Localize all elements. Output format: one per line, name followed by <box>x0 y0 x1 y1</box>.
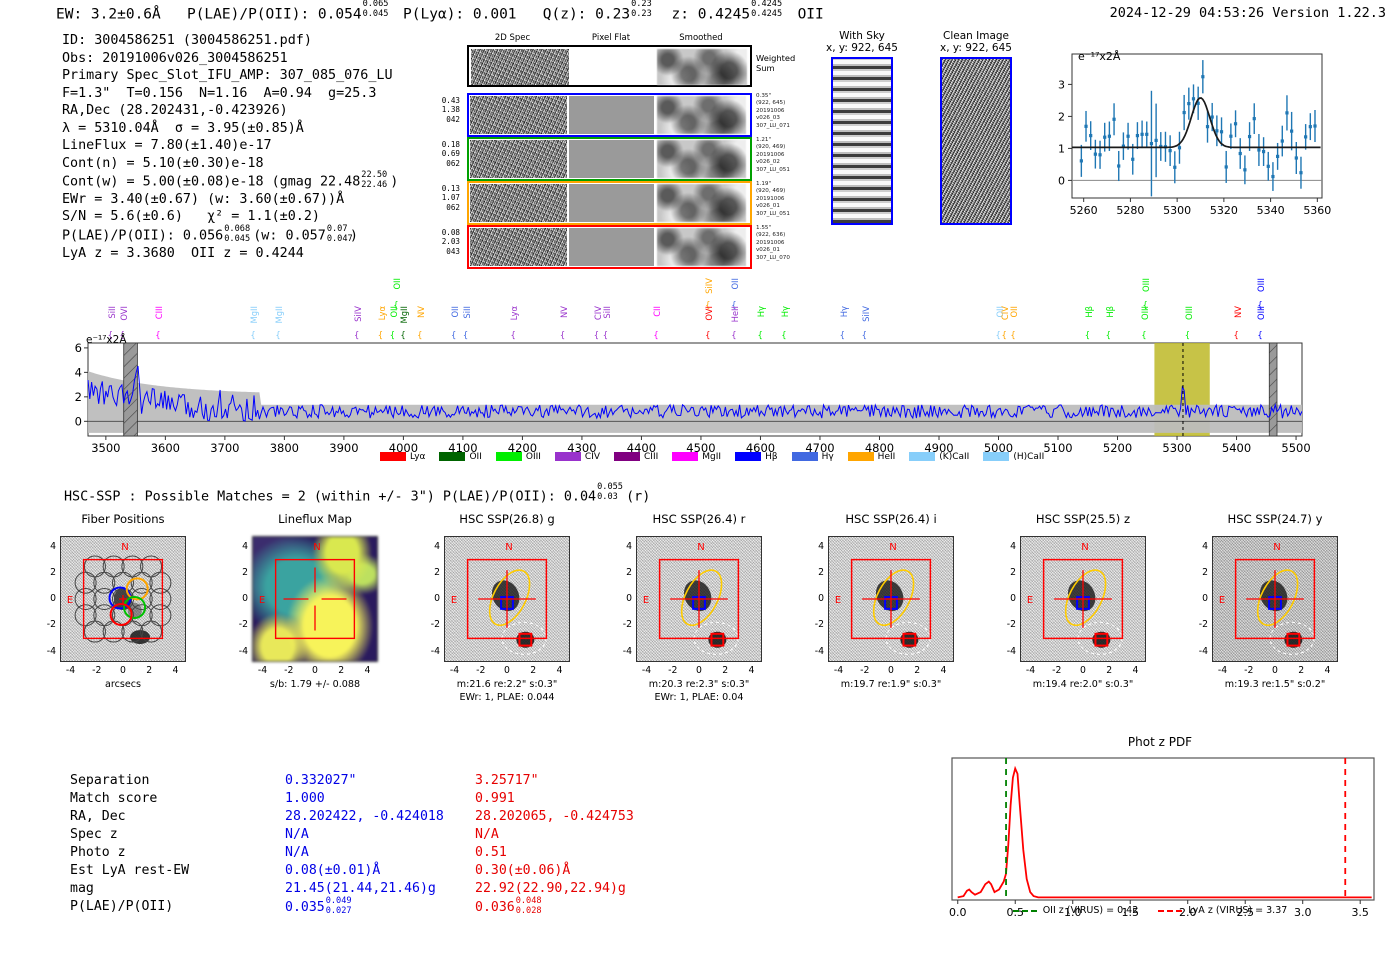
line-brace: { <box>417 330 422 340</box>
legend-item: MgII <box>672 452 721 462</box>
line-label-oii: OII <box>1009 306 1019 318</box>
row-label: Est LyA rest-EW <box>70 862 189 880</box>
x-tick: 0 <box>690 665 708 676</box>
x-tick: -2 <box>88 665 106 676</box>
x-tick: -4 <box>446 665 464 676</box>
with-sky-image <box>831 57 893 225</box>
x-tick: 4 <box>167 665 185 676</box>
header-z-bounds: 0.42450.4245 <box>750 4 780 19</box>
photz-title: Phot z PDF <box>930 735 1390 749</box>
cutout-caption-secondary: EWr: 1, PLAE: 0.04 <box>618 692 780 704</box>
photz-legend-item: OII z (VIRUS) = 0.42 <box>1013 905 1139 916</box>
svg-text:5500: 5500 <box>1281 441 1310 455</box>
y-tick: 4 <box>232 541 248 552</box>
x-tick: 2 <box>716 665 734 676</box>
line-label-siiv: SiIV <box>353 306 363 322</box>
x-tick: -2 <box>280 665 298 676</box>
legend-item: Lyα <box>380 452 425 462</box>
svg-text:3600: 3600 <box>151 441 180 455</box>
info-line-slot: Primary Spec_Slot_IFU_AMP: 307_085_076_L… <box>62 67 398 85</box>
line-label-hγ: Hγ <box>839 306 849 317</box>
x-tick: -2 <box>1240 665 1258 676</box>
with-sky-title: With Sky <box>820 30 904 42</box>
header-qz-bounds: 0.230.23 <box>630 4 654 19</box>
svg-text:0: 0 <box>1058 174 1065 187</box>
svg-text:3: 3 <box>1058 78 1065 91</box>
y-tick: -2 <box>1192 619 1208 630</box>
y-tick: 4 <box>40 541 56 552</box>
svg-text:5320: 5320 <box>1210 204 1238 217</box>
line-label-oiii: OIII <box>1256 278 1266 292</box>
x-tick: 4 <box>1127 665 1145 676</box>
header-summary: EW: 3.2±0.6Å P(LAE)/P(OII): 0.0540.0650.… <box>56 4 824 23</box>
row-value-match1: N/A <box>285 844 309 862</box>
header-z-type: OII <box>798 7 824 23</box>
y-tick: 2 <box>616 567 632 578</box>
line-brace: { <box>155 330 160 340</box>
svg-text:3900: 3900 <box>329 441 358 455</box>
y-tick: 4 <box>808 541 824 552</box>
svg-text:N: N <box>697 542 704 553</box>
legend-label: Lyα <box>410 452 425 462</box>
cutout-panel-row: Fiber PositionsNE-4-2024-4-2024arcsecsLi… <box>0 512 1400 737</box>
line-brace: { <box>594 330 599 340</box>
svg-text:N: N <box>313 542 320 553</box>
legend-label: MgII <box>702 452 721 462</box>
cutout-title: Lineflux Map <box>252 512 378 526</box>
svg-text:E: E <box>259 595 265 606</box>
svg-text:4: 4 <box>75 365 82 379</box>
line-brace: { <box>1106 330 1111 340</box>
full-spectrum-plot: SiII{OVI{CIII{MgII{MgII{SiIV{Lyα{OII{OII… <box>70 278 1370 478</box>
svg-text:2: 2 <box>75 390 82 404</box>
y-tick: 2 <box>40 567 56 578</box>
fiber-pixelflat-image <box>569 184 654 222</box>
svg-text:5360: 5360 <box>1303 204 1331 217</box>
line-brace: { <box>451 330 456 340</box>
hsc-plae-bounds: 0.0550.03 <box>596 487 626 500</box>
spec2d-col-title-2dspec: 2D Spec <box>460 33 565 43</box>
y-tick: -4 <box>424 646 440 657</box>
y-tick: 4 <box>616 541 632 552</box>
x-tick: 0 <box>1074 665 1092 676</box>
svg-text:5300: 5300 <box>1162 441 1191 455</box>
legend-item: HeII <box>848 452 896 462</box>
line-fit-unit-label: e⁻¹⁷x2Å <box>1078 50 1120 63</box>
legend-swatch <box>555 452 581 461</box>
x-tick: -2 <box>856 665 874 676</box>
line-label-oii: OII <box>392 278 402 290</box>
x-tick: -4 <box>62 665 80 676</box>
legend-swatch <box>848 452 874 461</box>
line-brace: { <box>603 330 608 340</box>
fiber-row-meta: 1.55" (922, 636) 20191006 v026_01 307_LU… <box>756 225 790 262</box>
cutout-caption: m:19.7 re:1.9" s:0.3" <box>810 679 972 691</box>
with-sky-thumb: With Sky x, y: 922, 645 <box>820 30 904 225</box>
line-label-oii: OII <box>450 306 460 318</box>
fiber-2dspec-image <box>470 96 567 134</box>
row-value-match1: 21.45(21.44,21.46)g <box>285 880 436 898</box>
line-brace: { <box>840 330 845 340</box>
spec2d-weighted-sum-label: Weighted Sum <box>756 53 795 73</box>
line-label-ovi: OVI <box>704 306 714 321</box>
y-tick: -4 <box>1000 646 1016 657</box>
svg-text:N: N <box>889 542 896 553</box>
legend-swatch <box>983 452 1009 461</box>
x-tick: 2 <box>140 665 158 676</box>
line-fit-plot: 5260528053005320534053600123 e⁻¹⁷x2Å <box>1030 40 1330 240</box>
legend-item: OII <box>439 452 481 462</box>
y-tick: 2 <box>424 567 440 578</box>
y-tick: -2 <box>616 619 632 630</box>
row-label: Match score <box>70 790 157 808</box>
legend-item: OIII <box>496 452 541 462</box>
line-label-ovi: OVI <box>119 306 129 321</box>
row-value-match2: 3.25717" <box>475 772 539 790</box>
cutout-title: Fiber Positions <box>60 512 186 526</box>
line-brace: { <box>1257 300 1262 310</box>
line-brace: { <box>1185 330 1190 340</box>
svg-text:E: E <box>451 595 457 606</box>
y-tick: -2 <box>232 619 248 630</box>
info-line-fwhm: F=1.3" T=0.156 N=1.16 A=0.94 g=25.3 <box>62 85 398 103</box>
hsc-header-text: HSC-SSP : Possible Matches = 2 (within +… <box>64 489 596 504</box>
fiber-row-numbers: 0.13 1.07 062 <box>430 184 460 212</box>
fiber-pixelflat-image <box>569 140 654 178</box>
fiber-row-meta: 1.21" (920, 469) 20191006 v026_02 307_LU… <box>756 137 790 174</box>
cutout-panel[interactable]: HSC SSP(25.5) zNE-4-2024-4-2024m:19.4 re… <box>1020 512 1190 526</box>
line-label-siii: SiII <box>107 306 117 319</box>
y-tick: 0 <box>232 593 248 604</box>
legend-item: Hγ <box>792 452 834 462</box>
timestamp-version: 2024-12-29 04:53:26 Version 1.22.3 <box>1110 5 1386 21</box>
svg-text:0: 0 <box>75 414 82 428</box>
row-label: Photo z <box>70 844 126 862</box>
header-ew: EW: 3.2±0.6Å <box>56 7 161 23</box>
line-label-hγ: Hγ <box>756 306 766 317</box>
full-spectrum-legend: LyαOIIOIIICIVCIIIMgIIHβHγHeII(K)CaII(H)C… <box>380 452 1058 462</box>
x-tick: 2 <box>908 665 926 676</box>
line-brace: { <box>1010 330 1015 340</box>
spec2d-fiber-row <box>467 93 752 137</box>
fiber-row-numbers: 0.18 0.69 062 <box>430 140 460 168</box>
x-tick: -4 <box>254 665 272 676</box>
fiber-pixelflat-image <box>569 228 654 266</box>
legend-label: HeII <box>878 452 896 462</box>
line-brace: { <box>378 330 383 340</box>
line-label-mgii: MgII <box>274 306 284 323</box>
line-brace: { <box>996 330 1001 340</box>
info-plae-w-bounds: 0.070.047 <box>326 226 350 239</box>
spec2d-panel: 2D Spec Pixel Flat Smoothed Weighted Sum… <box>460 33 760 253</box>
row-value-match2: 28.202065, -0.424753 <box>475 808 634 826</box>
y-tick: -2 <box>1000 619 1016 630</box>
svg-text:N: N <box>1273 542 1280 553</box>
row-value-match1: 0.0350.0490.027 <box>285 898 355 917</box>
x-tick: 4 <box>1319 665 1337 676</box>
line-brace: { <box>390 330 395 340</box>
x-tick: 0 <box>1266 665 1284 676</box>
header-plae-bounds: 0.0650.045 <box>362 4 386 19</box>
x-tick: 4 <box>935 665 953 676</box>
spec2d-col-title-pixelflat: Pixel Flat <box>566 33 656 43</box>
svg-text:N: N <box>1081 542 1088 553</box>
photz-legend-label: OII z (VIRUS) = 0.42 <box>1043 905 1139 916</box>
svg-text:2: 2 <box>1058 110 1065 123</box>
svg-text:N: N <box>121 542 128 553</box>
legend-swatch <box>672 452 698 461</box>
line-brace: { <box>731 330 736 340</box>
row-value-match2: 22.92(22.90,22.94)g <box>475 880 626 898</box>
svg-text:5260: 5260 <box>1070 204 1098 217</box>
line-brace: { <box>560 330 565 340</box>
y-tick: -4 <box>40 646 56 657</box>
info-line-radec: RA,Dec (28.202431,-0.423926) <box>62 102 398 120</box>
svg-text:5280: 5280 <box>1116 204 1144 217</box>
fiber-smoothed-image <box>657 96 746 134</box>
info-line-contw: Cont(w) = 5.00(±0.08)e-18 (gmag 22.4822.… <box>62 172 398 191</box>
row-value-match1: 1.000 <box>285 790 325 808</box>
x-tick: -2 <box>664 665 682 676</box>
spec2d-fiber-row <box>467 137 752 181</box>
svg-text:6: 6 <box>75 341 82 355</box>
info-line-plae: P(LAE)/P(OII): 0.0560.0680.045(w: 0.0570… <box>62 226 398 245</box>
spec2d-fiber-row <box>467 225 752 269</box>
spec2d-ws-smoothed-image <box>657 49 747 85</box>
fiber-smoothed-image <box>657 140 746 178</box>
y-tick: 2 <box>232 567 248 578</box>
hsc-header: HSC-SSP : Possible Matches = 2 (within +… <box>64 487 650 504</box>
weighted-label-line2: Sum <box>756 63 795 73</box>
x-tick: -4 <box>1214 665 1232 676</box>
row-value-match2: 0.51 <box>475 844 507 862</box>
info-line-lineflux: LineFlux = 7.80(±1.40)e-17 <box>62 137 398 155</box>
header-plae-label: P(LAE)/P(OII): 0.054 <box>187 7 362 23</box>
cutout-panel[interactable]: HSC SSP(26.8) gNE-4-2024-4-2024m:21.6 re… <box>444 512 614 526</box>
x-tick: 2 <box>524 665 542 676</box>
legend-item: CIII <box>614 452 658 462</box>
legend-swatch <box>439 452 465 461</box>
line-label-lyα: Lyα <box>509 306 519 320</box>
svg-text:E: E <box>835 595 841 606</box>
line-brace: { <box>393 300 398 310</box>
line-brace: { <box>1142 300 1147 310</box>
line-brace: { <box>463 330 468 340</box>
line-label-lyα: Lyα <box>377 306 387 320</box>
cutout-panel[interactable]: HSC SSP(26.4) rNE-4-2024-4-2024m:20.3 re… <box>636 512 806 526</box>
legend-item: (H)CaII <box>983 452 1044 462</box>
y-tick: 4 <box>424 541 440 552</box>
cutout-title: HSC SSP(25.5) z <box>1020 512 1146 526</box>
line-label-siii: SiII <box>602 306 612 319</box>
fiber-row-numbers: 0.43 1.38 042 <box>430 96 460 124</box>
svg-text:E: E <box>1219 595 1225 606</box>
svg-text:5300: 5300 <box>1163 204 1191 217</box>
legend-item: (K)CaII <box>909 452 969 462</box>
row-value-match2: 0.991 <box>475 790 515 808</box>
x-tick: -4 <box>638 665 656 676</box>
photz-legend-label: LyA z (VIRUS) = 3.37 <box>1188 905 1287 916</box>
cutout-panel[interactable]: HSC SSP(24.7) yNE-4-2024-4-2024m:19.3 re… <box>1212 512 1382 526</box>
detection-info-block: ID: 3004586251 (3004586251.pdf) Obs: 201… <box>62 32 398 262</box>
line-label-ciii: CIII <box>154 306 164 319</box>
cutout-panel[interactable]: Fiber PositionsNE-4-2024-4-2024arcsecs <box>60 512 230 526</box>
clean-image-subtitle: x, y: 922, 645 <box>928 42 1024 54</box>
weighted-label-line1: Weighted <box>756 53 795 63</box>
y-tick: -4 <box>1192 646 1208 657</box>
x-tick: 0 <box>306 665 324 676</box>
cutout-caption-secondary: EWr: 1, PLAE: 0.044 <box>426 692 588 704</box>
header-plya: P(Lyα): 0.001 <box>403 7 517 23</box>
y-tick: 4 <box>1000 541 1016 552</box>
x-tick: 0 <box>114 665 132 676</box>
row-value-match2: 0.0360.0480.028 <box>475 898 545 917</box>
line-brace: { <box>275 330 280 340</box>
legend-item: Hβ <box>735 452 778 462</box>
line-label-siii: SiII <box>462 306 472 319</box>
legend-label: (H)CaII <box>1013 452 1044 462</box>
svg-text:3500: 3500 <box>91 441 120 455</box>
line-label-hβ: Hβ <box>1084 306 1094 318</box>
line-brace: { <box>1001 330 1006 340</box>
info-line-contn: Cont(n) = 5.10(±0.30)e-18 <box>62 155 398 173</box>
plae-bounds-match2: 0.0480.028 <box>515 898 545 911</box>
x-tick: 2 <box>1292 665 1310 676</box>
line-brace: { <box>653 330 658 340</box>
line-brace: { <box>1085 330 1090 340</box>
fiber-2dspec-image <box>470 140 567 178</box>
x-tick: -4 <box>830 665 848 676</box>
fiber-pixelflat-image <box>569 96 654 134</box>
line-label-siiv: SiIV <box>861 306 871 322</box>
header-z-label: z: 0.4245 <box>672 7 751 23</box>
line-brace: { <box>510 330 515 340</box>
y-tick: -4 <box>808 646 824 657</box>
line-label-oii: OII <box>730 278 740 290</box>
line-label-oiii: OIII <box>1141 278 1151 292</box>
line-brace: { <box>705 330 710 340</box>
line-label-nv: NV <box>1233 306 1243 318</box>
legend-swatch <box>735 452 761 461</box>
info-line-id: ID: 3004586251 (3004586251.pdf) <box>62 32 398 50</box>
legend-swatch <box>380 452 406 461</box>
row-label: RA, Dec <box>70 808 126 826</box>
cutout-title: HSC SSP(26.4) r <box>636 512 762 526</box>
line-brace: { <box>781 330 786 340</box>
y-tick: 0 <box>1192 593 1208 604</box>
cutout-panel[interactable]: HSC SSP(26.4) iNE-4-2024-4-2024m:19.7 re… <box>828 512 998 526</box>
line-label-oiii: OIII <box>1184 306 1194 320</box>
y-tick: 0 <box>808 593 824 604</box>
line-brace: { <box>354 330 359 340</box>
fiber-row-meta: 1.19" (920, 469) 20191006 v026_01 307_LU… <box>756 181 790 218</box>
svg-text:1: 1 <box>1058 142 1065 155</box>
y-tick: 0 <box>616 593 632 604</box>
row-label: P(LAE)/P(OII) <box>70 898 173 916</box>
cutout-caption: m:19.3 re:1.5" s:0.2" <box>1194 679 1356 691</box>
legend-label: CIV <box>585 452 600 462</box>
line-label-hβ: Hβ <box>1105 306 1115 318</box>
cutout-title: HSC SSP(26.4) i <box>828 512 954 526</box>
row-label: Spec z <box>70 826 118 844</box>
cutout-caption: m:20.3 re:2.3" s:0.3" <box>618 679 780 691</box>
y-tick: -4 <box>616 646 632 657</box>
y-tick: 4 <box>1192 541 1208 552</box>
legend-swatch <box>496 452 522 461</box>
cutout-panel[interactable]: Lineflux MapNE-4-2024-4-2024s/b: 1.79 +/… <box>252 512 422 526</box>
x-tick: 0 <box>882 665 900 676</box>
photz-legend-dash <box>1013 910 1037 912</box>
svg-text:3800: 3800 <box>270 441 299 455</box>
line-label-cii: CII <box>652 306 662 317</box>
legend-label: Hβ <box>765 452 778 462</box>
line-label-nv: NV <box>416 306 426 318</box>
cutout-caption: m:21.6 re:2.2" s:0.3" <box>426 679 588 691</box>
info-line-obs: Obs: 20191006v026_3004586251 <box>62 50 398 68</box>
legend-swatch <box>614 452 640 461</box>
spec2d-weighted-sum-row <box>467 45 752 87</box>
info-plae-bounds: 0.0680.045 <box>223 226 253 239</box>
spec2d-col-title-smoothed: Smoothed <box>656 33 746 43</box>
y-tick: 0 <box>40 593 56 604</box>
line-label-mgii: MgII <box>399 306 409 323</box>
hsc-header-filter: (r) <box>626 489 650 504</box>
legend-item: CIV <box>555 452 600 462</box>
legend-label: Hγ <box>822 452 834 462</box>
fiber-row-numbers: 0.08 2.03 043 <box>430 228 460 256</box>
row-value-match1: 28.202422, -0.424018 <box>285 808 444 826</box>
x-tick: 2 <box>1100 665 1118 676</box>
line-brace: { <box>862 330 867 340</box>
row-value-match1: N/A <box>285 826 309 844</box>
y-tick: -2 <box>40 619 56 630</box>
fiber-smoothed-image <box>657 184 746 222</box>
cutout-caption: arcsecs <box>42 679 204 691</box>
spec2d-ws-2dspec-image <box>471 49 569 85</box>
row-value-match1: 0.332027" <box>285 772 356 790</box>
svg-text:E: E <box>1027 595 1033 606</box>
row-label: Separation <box>70 772 149 790</box>
line-label-heii: HeII <box>730 306 740 322</box>
photz-legend: OII z (VIRUS) = 0.42LyA z (VIRUS) = 3.37 <box>930 905 1390 916</box>
gmag-bounds: 22.5022.46 <box>360 172 390 185</box>
header-qz-label: Q(z): 0.23 <box>543 7 630 23</box>
y-tick: 2 <box>1000 567 1016 578</box>
y-tick: 0 <box>1000 593 1016 604</box>
row-value-match2: 0.30(±0.06)Å <box>475 862 570 880</box>
cutout-title: HSC SSP(26.8) g <box>444 512 570 526</box>
cutout-title: HSC SSP(24.7) y <box>1212 512 1338 526</box>
row-value-match2: N/A <box>475 826 499 844</box>
x-tick: 2 <box>332 665 350 676</box>
legend-swatch <box>792 452 818 461</box>
line-label-siiv: SiIV <box>704 278 714 294</box>
svg-text:E: E <box>67 595 73 606</box>
svg-text:E: E <box>643 595 649 606</box>
y-tick: 2 <box>808 567 824 578</box>
row-label: mag <box>70 880 94 898</box>
legend-label: OIII <box>526 452 541 462</box>
svg-text:3700: 3700 <box>210 441 239 455</box>
x-tick: 4 <box>551 665 569 676</box>
y-tick: 0 <box>424 593 440 604</box>
line-label-nv: NV <box>559 306 569 318</box>
photz-legend-dash <box>1158 910 1182 912</box>
row-value-match1: 0.08(±0.01)Å <box>285 862 380 880</box>
svg-text:5200: 5200 <box>1103 441 1132 455</box>
line-brace: { <box>400 330 405 340</box>
legend-label: (K)CaII <box>939 452 969 462</box>
